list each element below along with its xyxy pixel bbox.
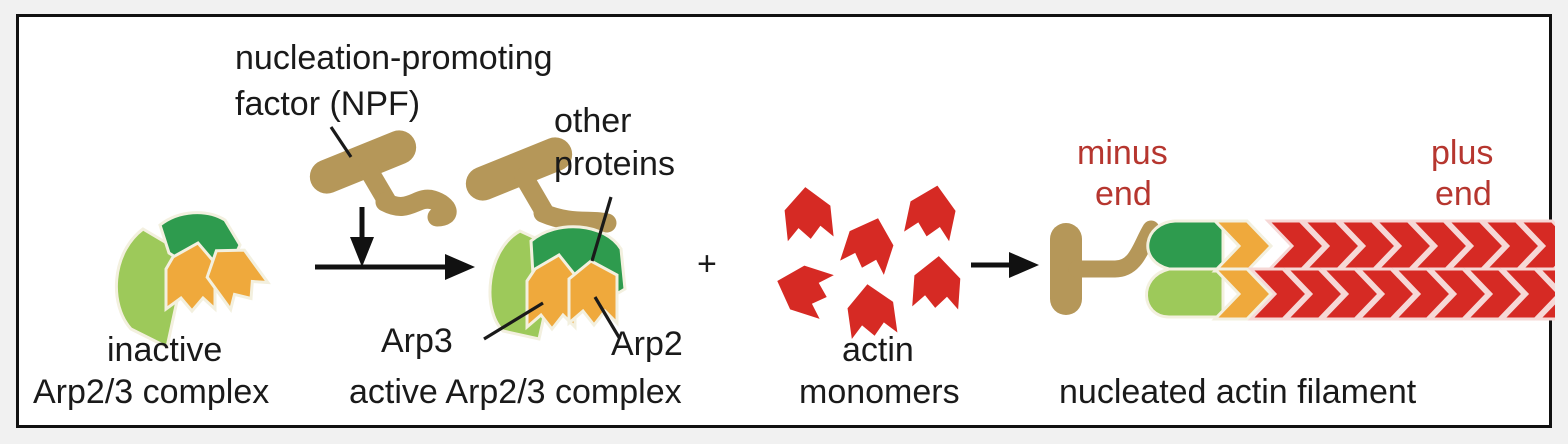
actin-monomers-label-line1: actin [842,331,914,369]
npf-bound-tail [543,213,607,223]
arp3-label: Arp3 [381,322,453,360]
minus-end-label-line2: end [1095,175,1152,213]
inactive-arp23-complex [116,213,269,347]
actin-monomer [912,254,962,309]
plus-end-label-line1: plus [1431,134,1493,172]
actin-monomers-label-line2: monomers [799,373,960,411]
nucleated-actin-filament [1050,221,1555,319]
inactive-complex-label-line1: inactive [107,331,222,369]
arp2-label: Arp2 [611,325,683,363]
plus-end-label-line2: end [1435,175,1492,213]
filament-caption: nucleated actin filament [1059,373,1417,411]
npf-leader-line [331,127,351,157]
inactive-complex-label-line2: Arp2/3 complex [33,373,269,411]
actin-monomer [904,181,960,241]
actin-monomers-group [770,181,962,339]
npf-tail [385,199,447,217]
other-proteins-label-line2: proteins [554,145,675,183]
filament-light-green-subunit [1146,269,1223,317]
filament-row-top [1268,221,1555,271]
filament-row-bottom [1251,269,1555,319]
figure-page: + [0,0,1568,444]
filament-dark-green-subunit [1148,221,1223,269]
actin-monomer [840,211,900,275]
filament-npf-arm [1077,229,1151,269]
arp23-nucleation-diagram: + [19,17,1555,431]
npf-free-molecule [305,125,447,217]
actin-monomer [770,259,834,319]
actin-monomer [782,185,833,242]
plus-sign: + [697,245,717,283]
minus-end-label-line1: minus [1077,134,1168,172]
npf-label-line2: factor (NPF) [235,85,420,123]
figure-panel: + [16,14,1552,428]
other-proteins-label-line1: other [554,102,632,140]
active-complex-label: active Arp2/3 complex [349,373,682,411]
reaction-arrow-2 [971,252,1039,278]
npf-label-line1: nucleation-promoting [235,39,553,77]
